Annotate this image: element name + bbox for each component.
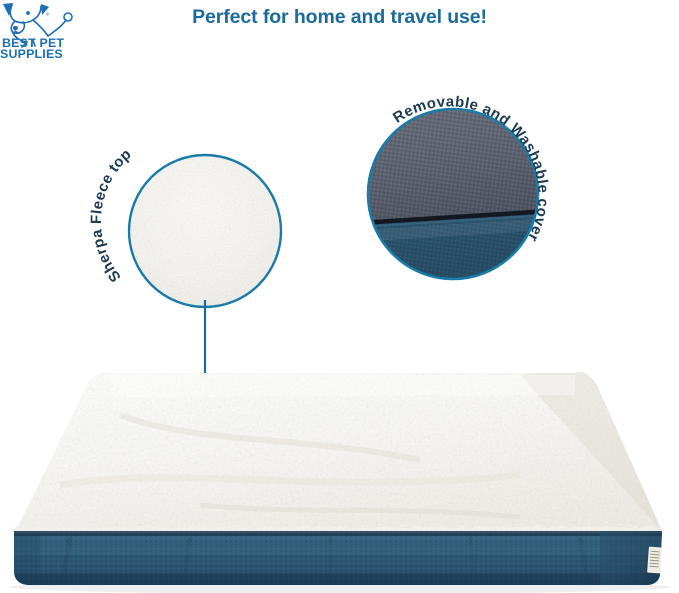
bed-base-band [0,525,679,593]
callout-sherpa-fleece-top: Sherpa Fleece top [95,95,325,325]
care-label-tag [647,547,662,574]
callout-removable-washable-cover: Removable and Washable cover [338,80,598,330]
logo-text-line2: SUPPLIES [0,47,63,60]
bed-piping [0,531,679,536]
product-image-dog-bed [0,355,679,593]
bed-fleece-top [0,355,679,555]
mesh-panel [360,102,550,222]
callout-label-sherpa: Sherpa Fleece top [88,146,135,286]
infographic-canvas: ® BEST PET SUPPLIES Perfect for home and… [0,0,679,593]
fleece-swatch [125,151,287,313]
page-title: Perfect for home and travel use! [0,6,679,29]
